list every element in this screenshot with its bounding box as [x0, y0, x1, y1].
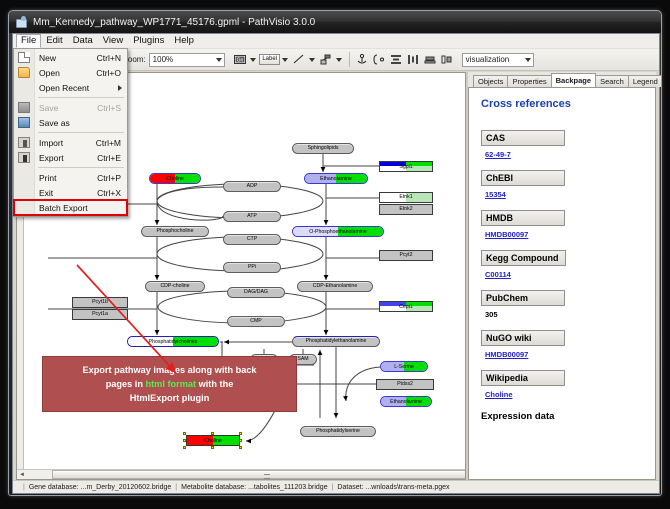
side-panel-tabstrip: Objects Properties Backpage Search Legen…: [468, 72, 656, 87]
side-panel: Objects Properties Backpage Search Legen…: [468, 72, 656, 480]
callout-line2-prefix: pages in: [106, 379, 146, 389]
node-phosphocholine[interactable]: Phosphocholine: [141, 226, 209, 237]
node-cdp-choline[interactable]: CDP-choline: [145, 281, 205, 292]
chevron-down-icon: [216, 58, 222, 62]
menu-item-open[interactable]: Open Ctrl+O: [14, 65, 127, 80]
import-icon: [18, 137, 30, 148]
file-menu-dropdown[interactable]: New Ctrl+N Open Ctrl+O Open Recent Save …: [13, 48, 128, 217]
menu-data[interactable]: Data: [68, 34, 98, 48]
scrollbar-thumb[interactable]: [52, 470, 466, 479]
node-phosphatidylcholines[interactable]: Phosphatidylcholines: [127, 336, 219, 347]
menu-file[interactable]: File: [16, 34, 41, 48]
metabolite-database-label: Metabolite database:: [181, 484, 246, 491]
align-icon[interactable]: [389, 52, 404, 67]
node-label: Choline: [150, 174, 200, 183]
node-ethanolamine-top[interactable]: Ethanolamine: [304, 173, 368, 184]
menu-item-label: Save: [39, 103, 58, 113]
toolbar-separator: [349, 52, 350, 67]
tab-objects[interactable]: Objects: [473, 75, 508, 87]
order-icon[interactable]: [440, 52, 455, 67]
node-sgpl1[interactable]: Sgpl1: [379, 161, 433, 172]
visualization-combobox[interactable]: visualization: [462, 53, 534, 67]
save-icon: [18, 102, 30, 113]
xref-link-hmdb[interactable]: HMDB00097: [485, 230, 655, 239]
xref-link-chebi[interactable]: 15354: [485, 190, 655, 199]
node-phosphatidylethanolamine[interactable]: Phosphatidylethanolamine: [292, 336, 380, 347]
chevron-right-icon: [118, 85, 122, 91]
xref-source-label: NuGO wiki: [481, 330, 565, 346]
callout-highlight: html format: [146, 379, 197, 389]
menu-item-print[interactable]: Print Ctrl+P: [14, 170, 127, 185]
scroll-left-icon[interactable]: ◄: [17, 470, 27, 479]
xref-hmdb: HMDB HMDB00097: [481, 208, 655, 239]
callout-line2-suffix: with the: [196, 379, 233, 389]
canvas-horizontal-scrollbar[interactable]: ◄ ►: [17, 469, 465, 479]
status-divider: |: [175, 484, 177, 491]
shape-dropdown-icon[interactable]: [336, 58, 342, 62]
menu-item-label: Save as: [39, 118, 70, 128]
status-divider: |: [23, 484, 25, 491]
menu-item-label: Open Recent: [39, 83, 89, 93]
node-ppi[interactable]: PPi: [223, 262, 281, 273]
svg-text:Gn: Gn: [237, 57, 244, 63]
menu-item-import[interactable]: Import Ctrl+M: [14, 135, 127, 150]
menu-divider: [38, 132, 124, 133]
node-dag[interactable]: DAG/DAG: [227, 287, 285, 298]
node-adp[interactable]: ADP: [223, 181, 281, 192]
menu-item-open-recent[interactable]: Open Recent: [14, 80, 127, 95]
xref-nugo-wiki: NuGO wiki HMDB00097: [481, 328, 655, 359]
menu-divider: [38, 97, 124, 98]
window-title: Mm_Kennedy_pathway_WP1771_45176.gpml - P…: [33, 17, 315, 28]
gene-database-value: ...m_Derby_20120602.bridge: [81, 484, 172, 491]
distribute-icon[interactable]: [406, 52, 421, 67]
menu-plugins[interactable]: Plugins: [128, 34, 169, 48]
node-label: Choline: [187, 436, 239, 445]
node-etnk1[interactable]: Etnk1: [379, 192, 433, 203]
tab-legend[interactable]: Legend: [628, 75, 662, 87]
xref-pubchem: PubChem 305: [481, 288, 655, 319]
menu-item-label: Batch Export: [39, 203, 88, 213]
menu-item-label: Exit: [39, 188, 53, 198]
menu-item-label: Open: [39, 68, 60, 78]
bracket-icon[interactable]: [372, 52, 387, 67]
callout-line3: HtmlExport plugin: [130, 393, 210, 403]
node-cmp[interactable]: CMP: [227, 316, 285, 327]
xref-link-wikipedia[interactable]: Choline: [485, 390, 655, 399]
node-label: Etnk1: [399, 195, 412, 200]
gene-database-label: Gene database:: [29, 484, 79, 491]
xref-source-label: CAS: [481, 130, 565, 146]
menu-item-label: New: [39, 53, 56, 63]
menu-item-label: Export: [39, 153, 64, 163]
xref-source-label: HMDB: [481, 210, 565, 226]
node-etnk2[interactable]: Etnk2: [379, 204, 433, 215]
backpage-panel: Cross references CAS 62-49-7 ChEBI 15354…: [468, 87, 656, 480]
node-pcyt1b[interactable]: Pcyt1b: [72, 297, 128, 308]
xref-value-pubchem: 305: [485, 310, 655, 319]
xref-kegg-compound: Kegg Compound C00114: [481, 248, 655, 279]
zoom-combobox[interactable]: 100%: [149, 53, 225, 67]
node-ptdss2[interactable]: Ptdss2: [376, 379, 434, 390]
save-as-icon: [18, 117, 30, 128]
callout-line1: Export pathway images along with back: [82, 365, 256, 375]
menu-item-new[interactable]: New Ctrl+N: [14, 50, 127, 65]
chevron-down-icon: [525, 58, 531, 62]
panel-splitter[interactable]: [466, 72, 468, 480]
export-icon: [18, 152, 30, 163]
expression-data-heading: Expression data: [481, 411, 655, 422]
node-ethanolamine-bottom[interactable]: Ethanolamine: [380, 396, 432, 407]
status-divider: |: [332, 484, 334, 491]
xref-source-label: PubChem: [481, 290, 565, 306]
datanode-dropdown-icon[interactable]: [250, 58, 256, 62]
menu-item-accelerator: Ctrl+E: [97, 153, 121, 163]
shape-icon[interactable]: [319, 52, 334, 67]
menu-item-accelerator: Ctrl+S: [97, 103, 121, 113]
tab-properties[interactable]: Properties: [507, 75, 551, 87]
node-cept1[interactable]: Cept1: [379, 301, 433, 312]
menu-item-export[interactable]: Export Ctrl+E: [14, 150, 127, 165]
xref-wikipedia: Wikipedia Choline: [481, 368, 655, 399]
node-label: O-Phosphoethanolamine: [293, 227, 383, 236]
metabolite-database-value: ...tabolites_111203.bridge: [248, 484, 328, 491]
node-label: L-Serine: [381, 362, 427, 371]
line-icon[interactable]: [292, 52, 307, 67]
menu-item-label: Print: [39, 173, 56, 183]
node-pcyt1a[interactable]: Pcyt1a: [72, 309, 128, 320]
pathvisio-window: Mm_Kennedy_pathway_WP1771_45176.gpml - P…: [8, 10, 662, 496]
menu-item-label: Import: [39, 138, 63, 148]
annotation-callout: Export pathway images along with back pa…: [42, 356, 297, 412]
menu-item-accelerator: Ctrl+N: [97, 53, 121, 63]
label-dropdown-icon[interactable]: [282, 58, 288, 62]
xref-source-label: Kegg Compound: [481, 250, 566, 266]
status-bar: | Gene database: ...m_Derby_20120602.bri…: [13, 480, 659, 493]
stack-icon[interactable]: [423, 52, 438, 67]
screenshot-root: Mm_Kennedy_pathway_WP1771_45176.gpml - P…: [0, 0, 670, 509]
menu-edit[interactable]: Edit: [41, 34, 67, 48]
visualization-value: visualization: [466, 55, 510, 64]
xref-cas: CAS 62-49-7: [481, 128, 655, 159]
datanode-icon[interactable]: Gn: [233, 52, 248, 67]
menu-divider: [38, 167, 124, 168]
node-cdp-ethanolamine[interactable]: CDP-Ethanolamine: [297, 281, 373, 292]
xref-source-label: ChEBI: [481, 170, 565, 186]
tab-backpage[interactable]: Backpage: [551, 73, 596, 87]
menu-item-save-as[interactable]: Save as: [14, 115, 127, 130]
node-atp[interactable]: ATP: [223, 211, 281, 222]
node-phosphatidylserine[interactable]: Phosphatidylserine: [300, 426, 376, 437]
node-choline-top[interactable]: Choline: [149, 173, 201, 184]
scrollbar-track[interactable]: [27, 470, 455, 479]
menu-item-save: Save Ctrl+S: [14, 100, 127, 115]
menu-item-exit[interactable]: Exit Ctrl+X: [14, 185, 127, 200]
node-o-phosphoethanolamine[interactable]: O-Phosphoethanolamine: [292, 226, 384, 237]
line-dropdown-icon[interactable]: [309, 58, 315, 62]
dataset-value: ...wnloads\trans-meta.pgex: [365, 484, 449, 491]
node-l-serine[interactable]: L-Serine: [380, 361, 428, 372]
anchor-icon[interactable]: [355, 52, 370, 67]
xref-link-kegg[interactable]: C00114: [485, 270, 655, 279]
menu-bar: File Edit Data View Plugins Help: [13, 34, 659, 49]
node-ctp[interactable]: CTP: [223, 234, 281, 245]
menu-item-accelerator: Ctrl+X: [97, 188, 121, 198]
menu-item-accelerator: Ctrl+P: [97, 173, 121, 183]
new-file-icon: [18, 52, 30, 63]
dataset-label: Dataset:: [337, 484, 363, 491]
open-folder-icon: [18, 67, 30, 78]
menu-view[interactable]: View: [98, 34, 128, 48]
cross-references-heading: Cross references: [481, 98, 655, 110]
tab-search[interactable]: Search: [595, 75, 629, 87]
menu-help[interactable]: Help: [169, 34, 199, 48]
pathvisio-icon: [15, 16, 27, 28]
node-label: Ethanolamine: [305, 174, 367, 183]
node-label: Phosphatidylcholines: [128, 337, 218, 346]
xref-chebi: ChEBI 15354: [481, 168, 655, 199]
xref-link-cas[interactable]: 62-49-7: [485, 150, 655, 159]
zoom-value: 100%: [153, 55, 173, 64]
node-label: Ethanolamine: [381, 397, 431, 406]
title-bar: Mm_Kennedy_pathway_WP1771_45176.gpml - P…: [9, 11, 661, 33]
menu-item-accelerator: Ctrl+M: [96, 138, 121, 148]
node-pcyt2[interactable]: Pcyt2: [379, 250, 433, 261]
node-label: Sgpl1: [380, 162, 432, 171]
node-choline-selected[interactable]: Choline: [186, 435, 240, 446]
xref-link-nugo[interactable]: HMDB00097: [485, 350, 655, 359]
label-button[interactable]: Label: [260, 52, 280, 67]
menu-item-accelerator: Ctrl+O: [96, 68, 121, 78]
menu-item-batch-export[interactable]: Batch Export: [14, 200, 127, 215]
node-label: Cept1: [380, 302, 432, 311]
xref-source-label: Wikipedia: [481, 370, 565, 386]
node-sphingolipids[interactable]: Sphingolipids: [292, 143, 354, 154]
